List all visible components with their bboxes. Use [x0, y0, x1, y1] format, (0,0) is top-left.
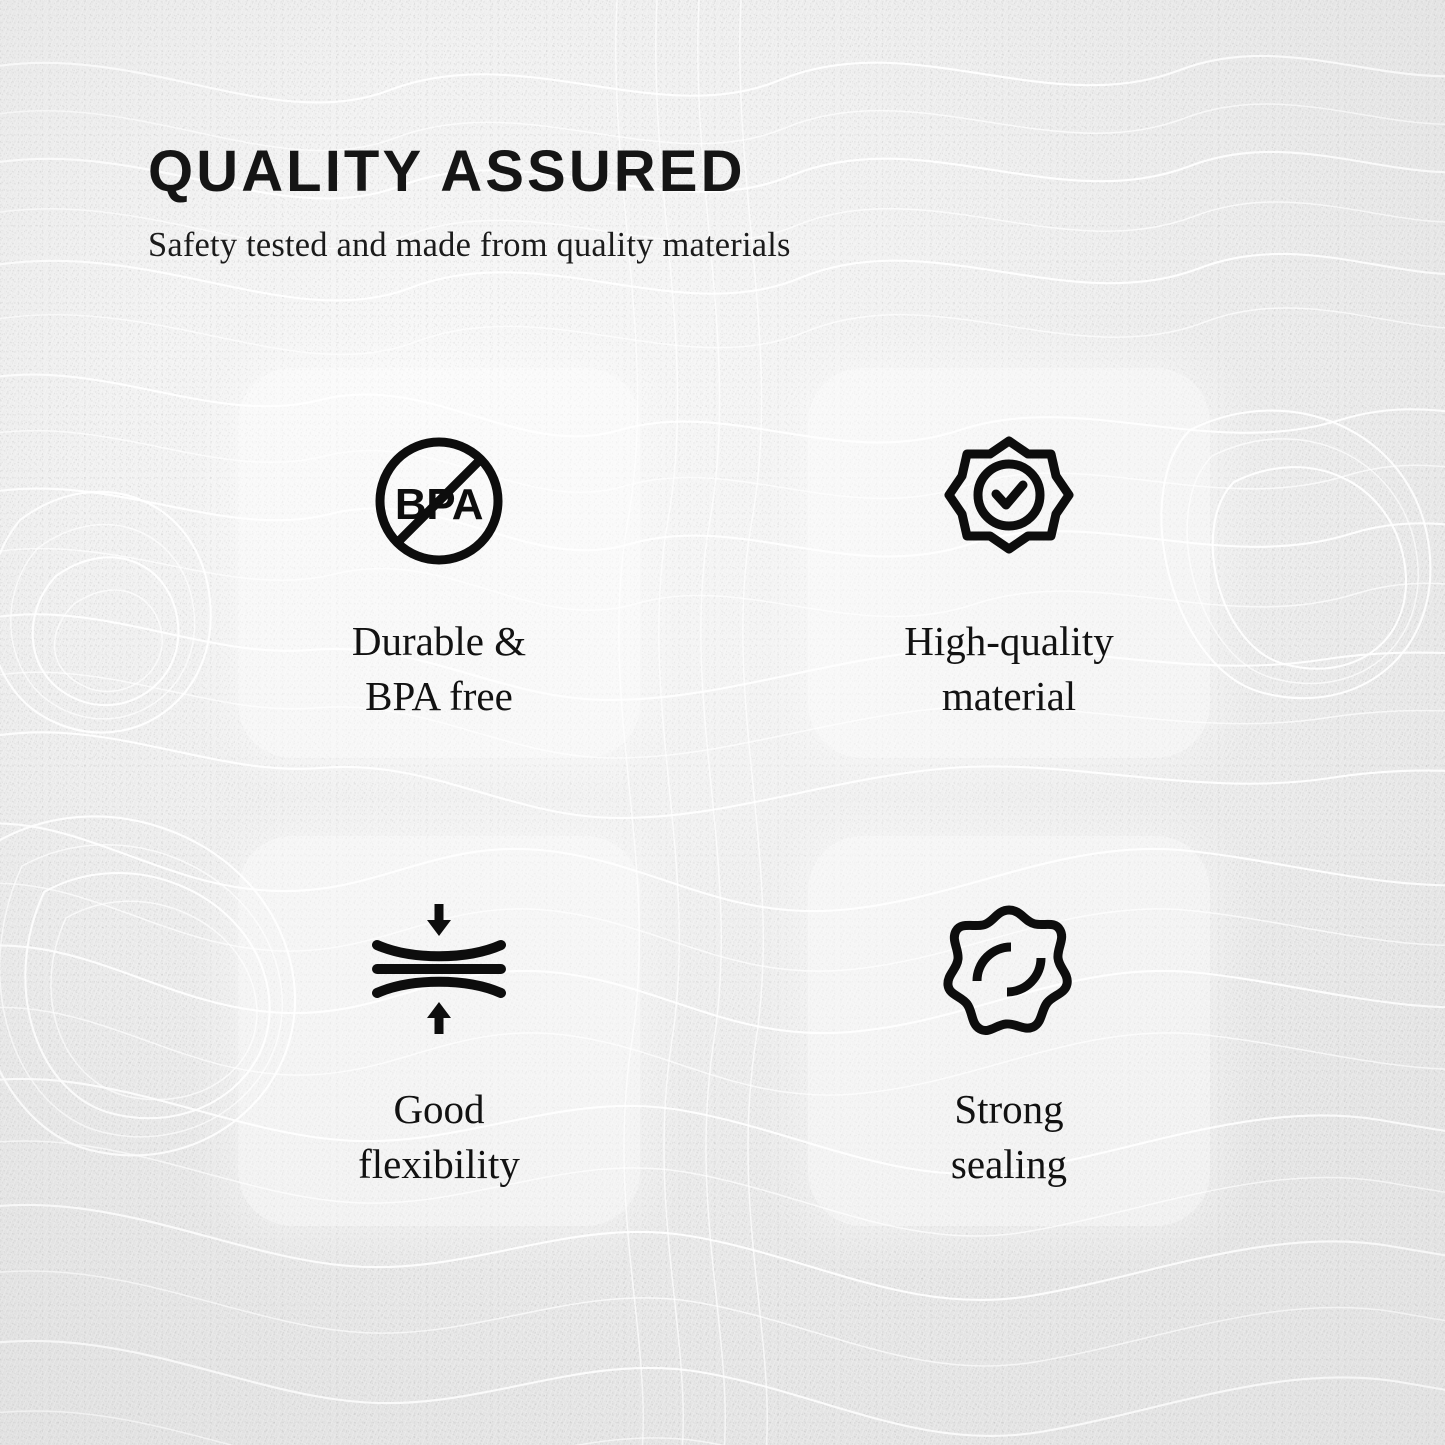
- feature-label: Strong sealing: [951, 1082, 1067, 1192]
- svg-text:BPA: BPA: [395, 480, 483, 529]
- feature-label: Good flexibility: [358, 1082, 520, 1192]
- feature-label: High-quality material: [904, 614, 1114, 724]
- feature-card-good-flexibility: Good flexibility: [238, 836, 640, 1226]
- seal-scallop-icon: [934, 894, 1084, 1044]
- quality-assured-infographic: QUALITY ASSURED Safety tested and made f…: [0, 0, 1445, 1445]
- feature-card-strong-sealing: Strong sealing: [808, 836, 1210, 1226]
- bpa-free-icon: BPA: [364, 426, 514, 576]
- feature-card-grid: BPA Durable & BPA free High-quality mate…: [238, 368, 1210, 1226]
- feature-card-high-quality-material: High-quality material: [808, 368, 1210, 758]
- page-subtitle: Safety tested and made from quality mate…: [148, 201, 1251, 262]
- feature-card-durable-bpa-free: BPA Durable & BPA free: [238, 368, 640, 758]
- header: QUALITY ASSURED Safety tested and made f…: [148, 143, 1268, 262]
- quality-badge-check-icon: [934, 426, 1084, 576]
- feature-label: Durable & BPA free: [352, 614, 526, 724]
- flexibility-compress-icon: [364, 894, 514, 1044]
- page-title: QUALITY ASSURED: [148, 143, 1268, 201]
